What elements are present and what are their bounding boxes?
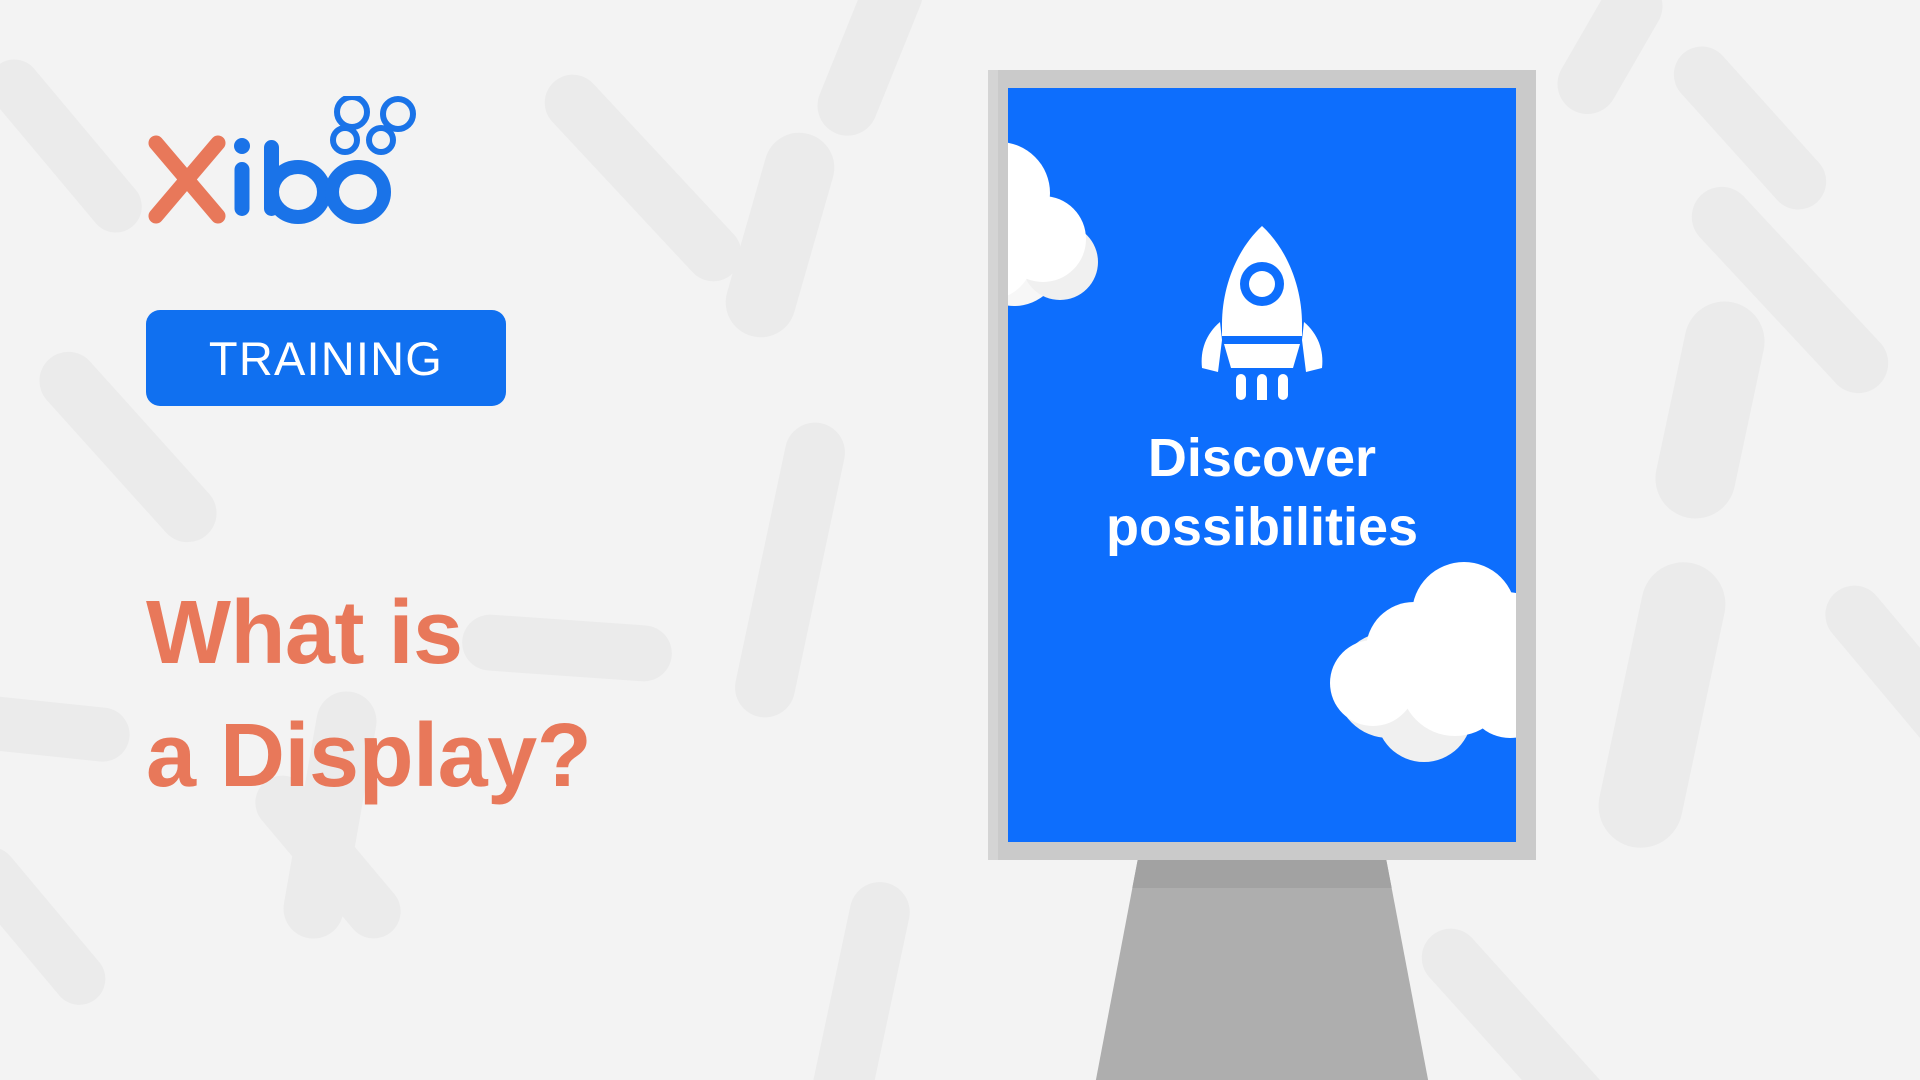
rocket-fin-left — [1202, 322, 1222, 372]
screen-content-area: Discover possibilities — [1008, 88, 1516, 842]
xibo-logo-mark — [146, 96, 416, 226]
decor-capsule — [1547, 0, 1674, 125]
decor-capsule — [1679, 174, 1900, 405]
rocket-icon — [1192, 222, 1332, 400]
decor-capsule — [1648, 294, 1772, 526]
logo-x-glyph — [156, 143, 218, 216]
decor-capsule — [805, 876, 916, 1080]
logo-i-glyph — [234, 138, 250, 216]
decor-capsule — [0, 837, 116, 1016]
decor-capsule — [1591, 554, 1733, 855]
cloud-icon — [1348, 566, 1516, 766]
display-stand-neck-top — [1094, 860, 1430, 888]
decor-capsule — [1662, 35, 1837, 221]
display-stand-neck — [1094, 860, 1430, 1080]
page-title: What is a Display? — [146, 572, 591, 817]
training-badge-label: TRAINING — [209, 335, 443, 382]
bubble-icon — [333, 97, 413, 152]
decor-capsule — [0, 690, 132, 765]
slide-canvas: TRAINING What is a Display? — [0, 0, 1920, 1080]
decor-capsule — [729, 417, 850, 723]
digital-signage-display: Discover possibilities — [988, 70, 1536, 1080]
xibo-logo — [146, 96, 416, 226]
rocket-hull — [1224, 344, 1300, 368]
left-content-column — [146, 96, 786, 226]
screen-headline: Discover possibilities — [1008, 424, 1516, 562]
logo-b-glyph — [264, 140, 324, 217]
logo-o-glyph — [332, 167, 384, 217]
decor-capsule — [0, 49, 152, 243]
decor-capsule — [1814, 574, 1920, 764]
training-badge: TRAINING — [146, 310, 506, 406]
decor-capsule — [808, 0, 931, 145]
rocket-fin-right — [1302, 322, 1322, 372]
cloud-icon — [1008, 138, 1148, 308]
